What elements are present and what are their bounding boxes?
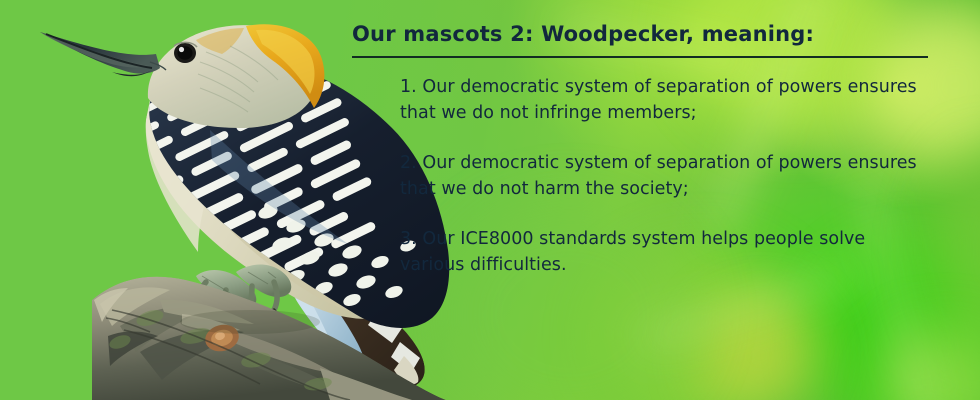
title-divider [352,56,928,58]
list-item: 2. Our democratic system of separation o… [400,150,930,202]
list-item: 1. Our democratic system of separation o… [400,74,930,126]
meaning-list: 1. Our democratic system of separation o… [400,74,930,278]
bird-beak [40,32,166,76]
text-panel: Our mascots 2: Woodpecker, meaning: 1. O… [352,22,932,278]
page-title: Our mascots 2: Woodpecker, meaning: [352,22,932,46]
mascot-banner: Our mascots 2: Woodpecker, meaning: 1. O… [0,0,980,400]
list-item: 3. Our ICE8000 standards system helps pe… [400,226,930,278]
